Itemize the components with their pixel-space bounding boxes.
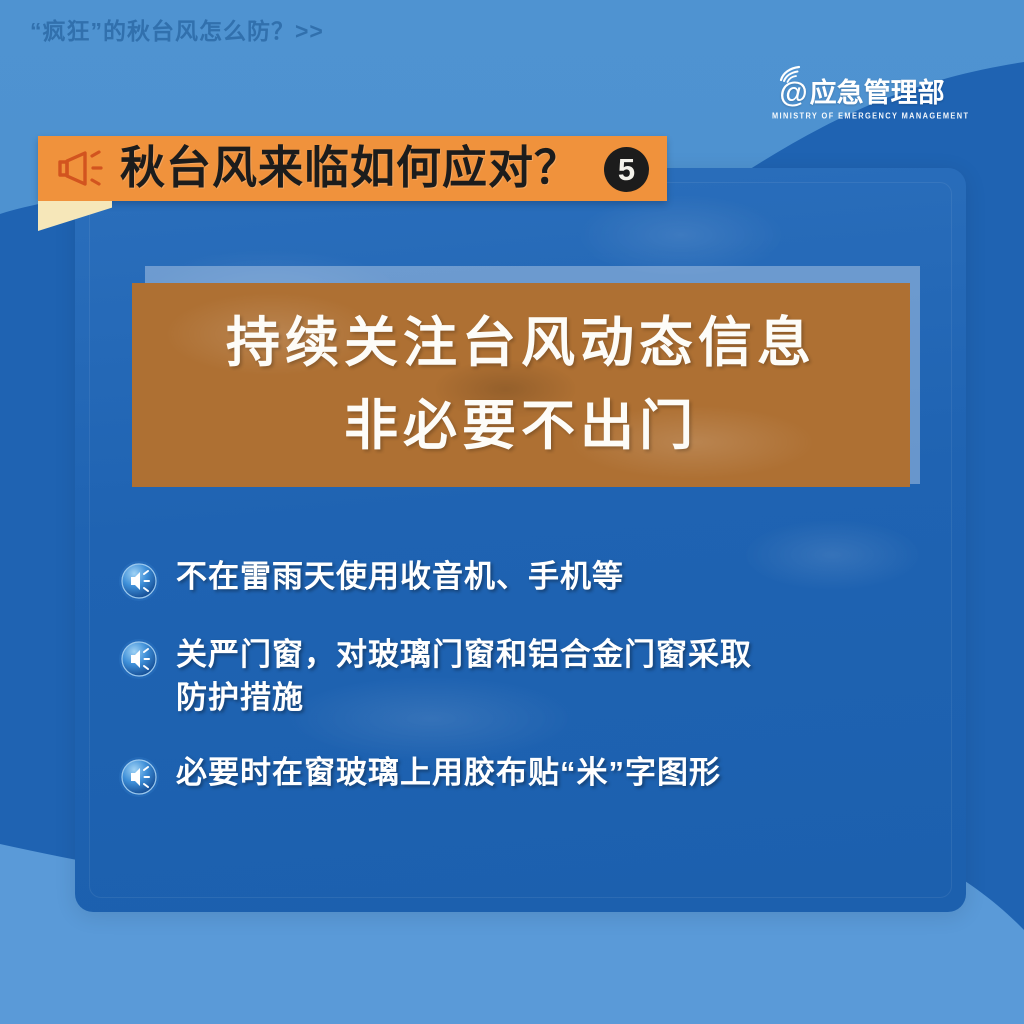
poster-root: “疯狂”的秋台风怎么防？>> @ 应急管理部 MINISTRY OF EMERG… [0, 0, 1024, 1024]
list-item-line: 关严门窗，对玻璃门窗和铝合金门窗采取 [176, 634, 752, 677]
list-item-text: 不在雷雨天使用收音机、手机等 [176, 556, 624, 599]
logo-name-en: MINISTRY OF EMERGENCY MANAGEMENT [772, 110, 952, 120]
section-banner: 秋台风来临如何应对？ 5 [38, 136, 667, 201]
list-item: 不在雷雨天使用收音机、手机等 [118, 556, 908, 602]
list-item-text: 关严门窗，对玻璃门窗和铝合金门窗采取 防护措施 [176, 634, 752, 720]
section-banner-body: 秋台风来临如何应对？ 5 [38, 136, 667, 201]
logo-wordmark: @ 应急管理部 [772, 78, 952, 107]
list-item: 必要时在窗玻璃上用胶布贴“米”字图形 [118, 752, 908, 798]
list-item-line: 必要时在窗玻璃上用胶布贴“米”字图形 [176, 752, 721, 795]
list-item-text: 必要时在窗玻璃上用胶布贴“米”字图形 [176, 752, 721, 795]
speaker-icon [118, 638, 160, 680]
speaker-icon [118, 756, 160, 798]
headline-line-2: 非必要不出门 [344, 398, 698, 455]
list-item: 关严门窗，对玻璃门窗和铝合金门窗采取 防护措施 [118, 634, 908, 720]
headline-panel: 持续关注台风动态信息 非必要不出门 [132, 283, 910, 487]
ministry-logo: @ 应急管理部 MINISTRY OF EMERGENCY MANAGEMENT [772, 78, 952, 120]
logo-name-cn: 应急管理部 [810, 80, 945, 107]
logo-at-icon: @ [779, 79, 807, 108]
bullet-list: 不在雷雨天使用收音机、手机等 关严门窗， [118, 556, 908, 830]
headline-line-1: 持续关注台风动态信息 [226, 315, 816, 372]
section-banner-number-badge: 5 [604, 147, 649, 192]
speaker-icon [118, 560, 160, 602]
section-banner-title: 秋台风来临如何应对？ [120, 145, 580, 190]
megaphone-icon [54, 147, 106, 189]
page-top-title: “疯狂”的秋台风怎么防？>> [30, 12, 324, 46]
list-item-line: 防护措施 [176, 677, 752, 720]
list-item-line: 不在雷雨天使用收音机、手机等 [176, 556, 624, 599]
